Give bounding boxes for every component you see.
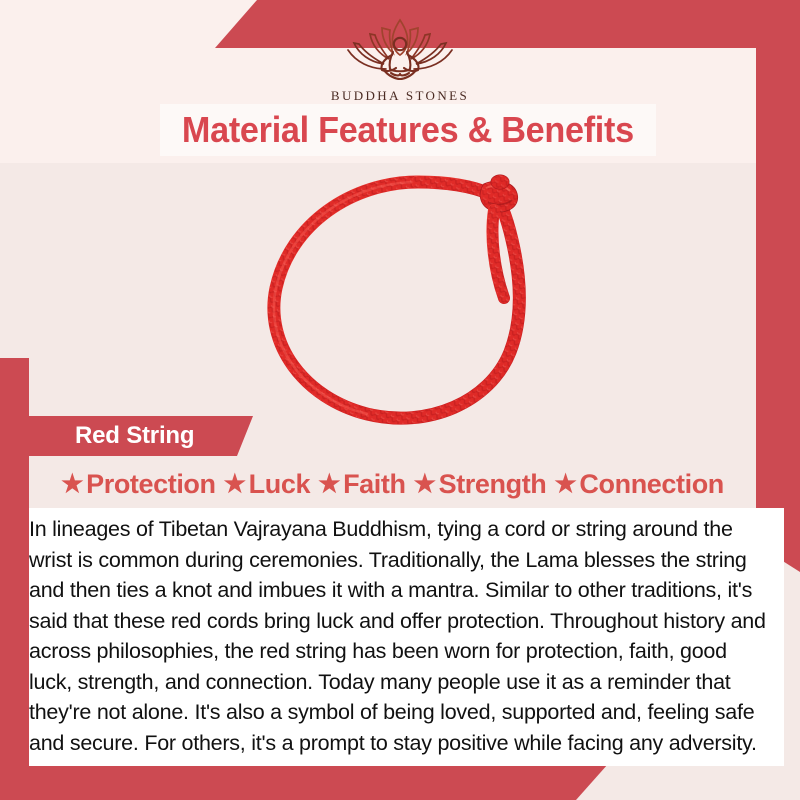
star-icon: ★ <box>61 472 83 497</box>
infographic-card: BUDDHA STONES Material Features & Benefi… <box>0 0 800 800</box>
description-body: In lineages of Tibetan Vajrayana Buddhis… <box>29 514 770 758</box>
star-icon: ★ <box>318 472 340 497</box>
benefit-item: ★ Faith <box>314 469 410 500</box>
description-panel: In lineages of Tibetan Vajrayana Buddhis… <box>29 508 784 766</box>
material-label: Red String <box>17 422 194 450</box>
benefit-item: ★ Luck <box>220 469 314 500</box>
red-braided-cord-bracelet-image <box>232 166 592 434</box>
material-label-banner: Red String <box>17 416 253 456</box>
page-title: Material Features & Benefits <box>182 109 634 151</box>
benefit-label: Connection <box>579 469 724 500</box>
benefit-label: Faith <box>343 469 406 500</box>
benefit-label: Luck <box>249 469 310 500</box>
product-image <box>232 166 592 434</box>
brand-logo: BUDDHA STONES <box>0 14 800 104</box>
benefit-item: ★ Connection <box>550 469 728 500</box>
page-title-band: Material Features & Benefits <box>160 104 656 156</box>
decorative-bottom-band <box>0 764 608 800</box>
benefit-label: Strength <box>439 469 547 500</box>
brand-wordmark: BUDDHA STONES <box>0 88 800 104</box>
lotus-meditation-icon <box>334 14 466 86</box>
benefit-item: ★ Strength <box>410 469 551 500</box>
star-icon: ★ <box>414 472 436 497</box>
benefit-item: ★ Protection <box>57 469 220 500</box>
star-icon: ★ <box>224 472 246 497</box>
benefits-list: ★ Protection ★ Luck ★ Faith ★ Strength ★… <box>29 462 756 506</box>
star-icon: ★ <box>554 472 576 497</box>
benefit-label: Protection <box>86 469 216 500</box>
